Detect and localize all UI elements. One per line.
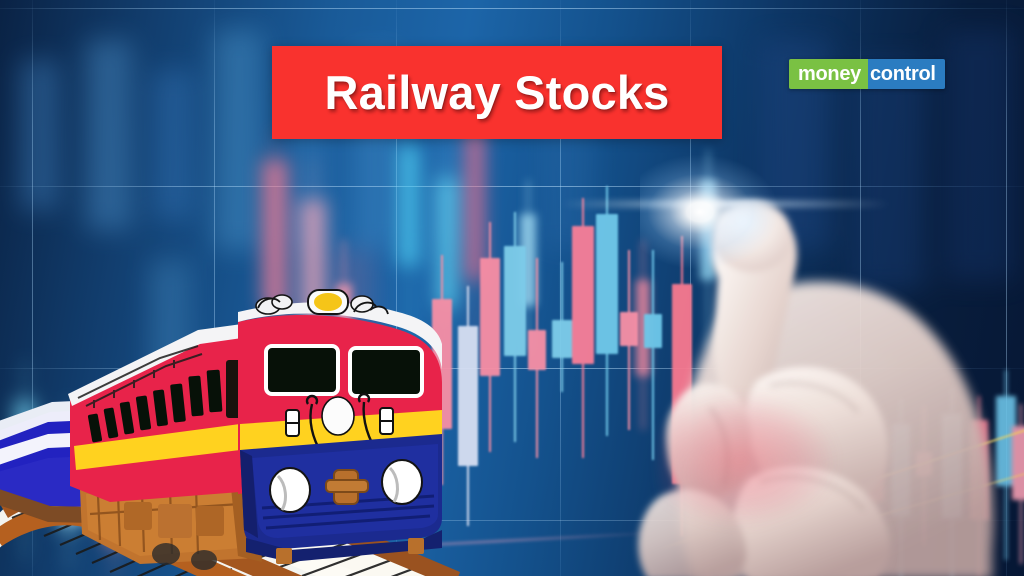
moneycontrol-logo[interactable]: money control [789, 59, 945, 89]
headlight-right [382, 460, 422, 504]
screenshot-canvas: 4864 32951 [0, 0, 1024, 576]
logo-control-text: control [868, 59, 945, 89]
train-illustration [0, 218, 480, 576]
roof-fittings [256, 290, 388, 314]
locomotive-body [68, 324, 242, 502]
locomotive-front-lower [240, 434, 442, 550]
title-banner: Railway Stocks [272, 46, 722, 139]
windshield-right [350, 348, 422, 396]
pointing-hand-graphic [600, 150, 1024, 576]
page-title: Railway Stocks [324, 65, 669, 120]
roof-beacon-lamp [314, 293, 342, 311]
logo-money-text: money [789, 59, 868, 89]
windshield-left [266, 346, 338, 394]
headlight-left [270, 468, 310, 512]
